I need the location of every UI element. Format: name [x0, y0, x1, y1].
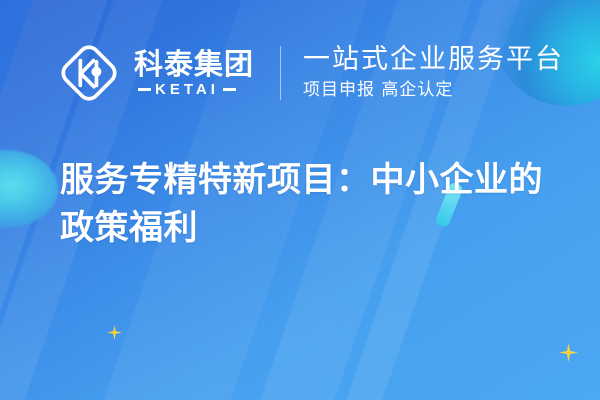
tagline-main: 一站式企业服务平台 — [303, 44, 564, 76]
page-title: 服务专精特新项目：中小企业的政策福利 — [60, 156, 558, 253]
logo-wordmark: 科泰集团 KETAI — [134, 49, 254, 96]
sparkle-star-right — [559, 343, 578, 362]
cyan-glow-blob — [0, 150, 58, 228]
blue-diagonal-capsule — [0, 0, 67, 242]
logo-company-name-cn: 科泰集团 — [134, 49, 254, 79]
header-tagline: 一站式企业服务平台 项目申报 高企认定 — [303, 44, 564, 103]
promo-banner: 科泰集团 KETAI 一站式企业服务平台 项目申报 高企认定 服务专精特新项目：… — [0, 0, 600, 400]
light-streak — [0, 0, 18, 400]
tagline-sub: 项目申报 高企认定 — [303, 79, 564, 102]
logo-company-name-en: KETAI — [134, 82, 254, 97]
ketai-diamond-monogram-logo — [58, 42, 120, 104]
logo-dash-left — [138, 88, 151, 91]
logo-company-en-text: KETAI — [155, 82, 219, 97]
header-divider — [280, 46, 281, 100]
logo-dash-right — [223, 88, 236, 91]
sparkle-star-left — [107, 325, 122, 340]
banner-header: 科泰集团 KETAI 一站式企业服务平台 项目申报 高企认定 — [58, 36, 564, 110]
